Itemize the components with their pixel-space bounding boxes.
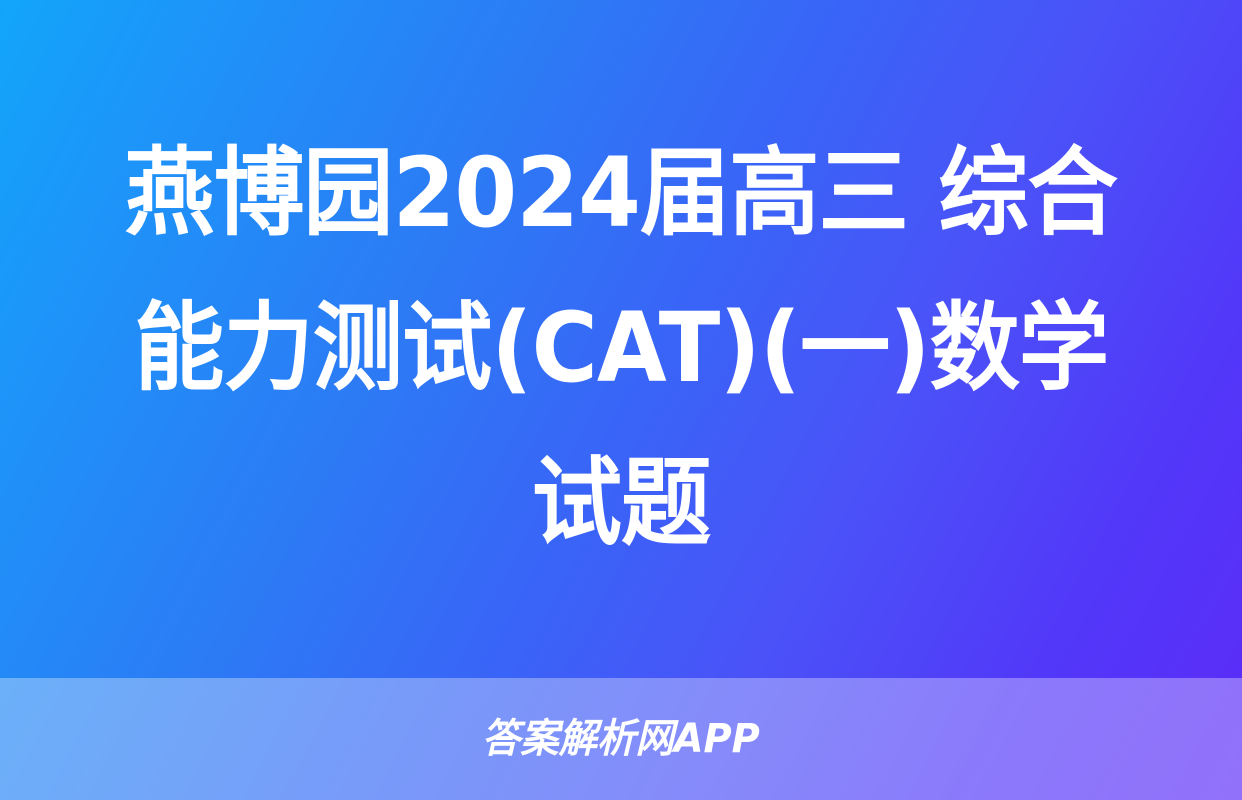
exam-cover-card: 燕博园2024届高三 综合 能力测试(CAT)(一)数学 试题 答案解析网APP: [0, 0, 1242, 800]
app-watermark: 答案解析网APP: [482, 717, 760, 761]
title-line-1: 燕博园2024届高三 综合: [125, 116, 1117, 271]
footer-band: 答案解析网APP: [0, 678, 1242, 800]
title-line-2: 能力测试(CAT)(一)数学: [134, 271, 1108, 426]
title-block: 燕博园2024届高三 综合 能力测试(CAT)(一)数学 试题: [0, 0, 1242, 678]
title-line-3: 试题: [532, 426, 711, 581]
